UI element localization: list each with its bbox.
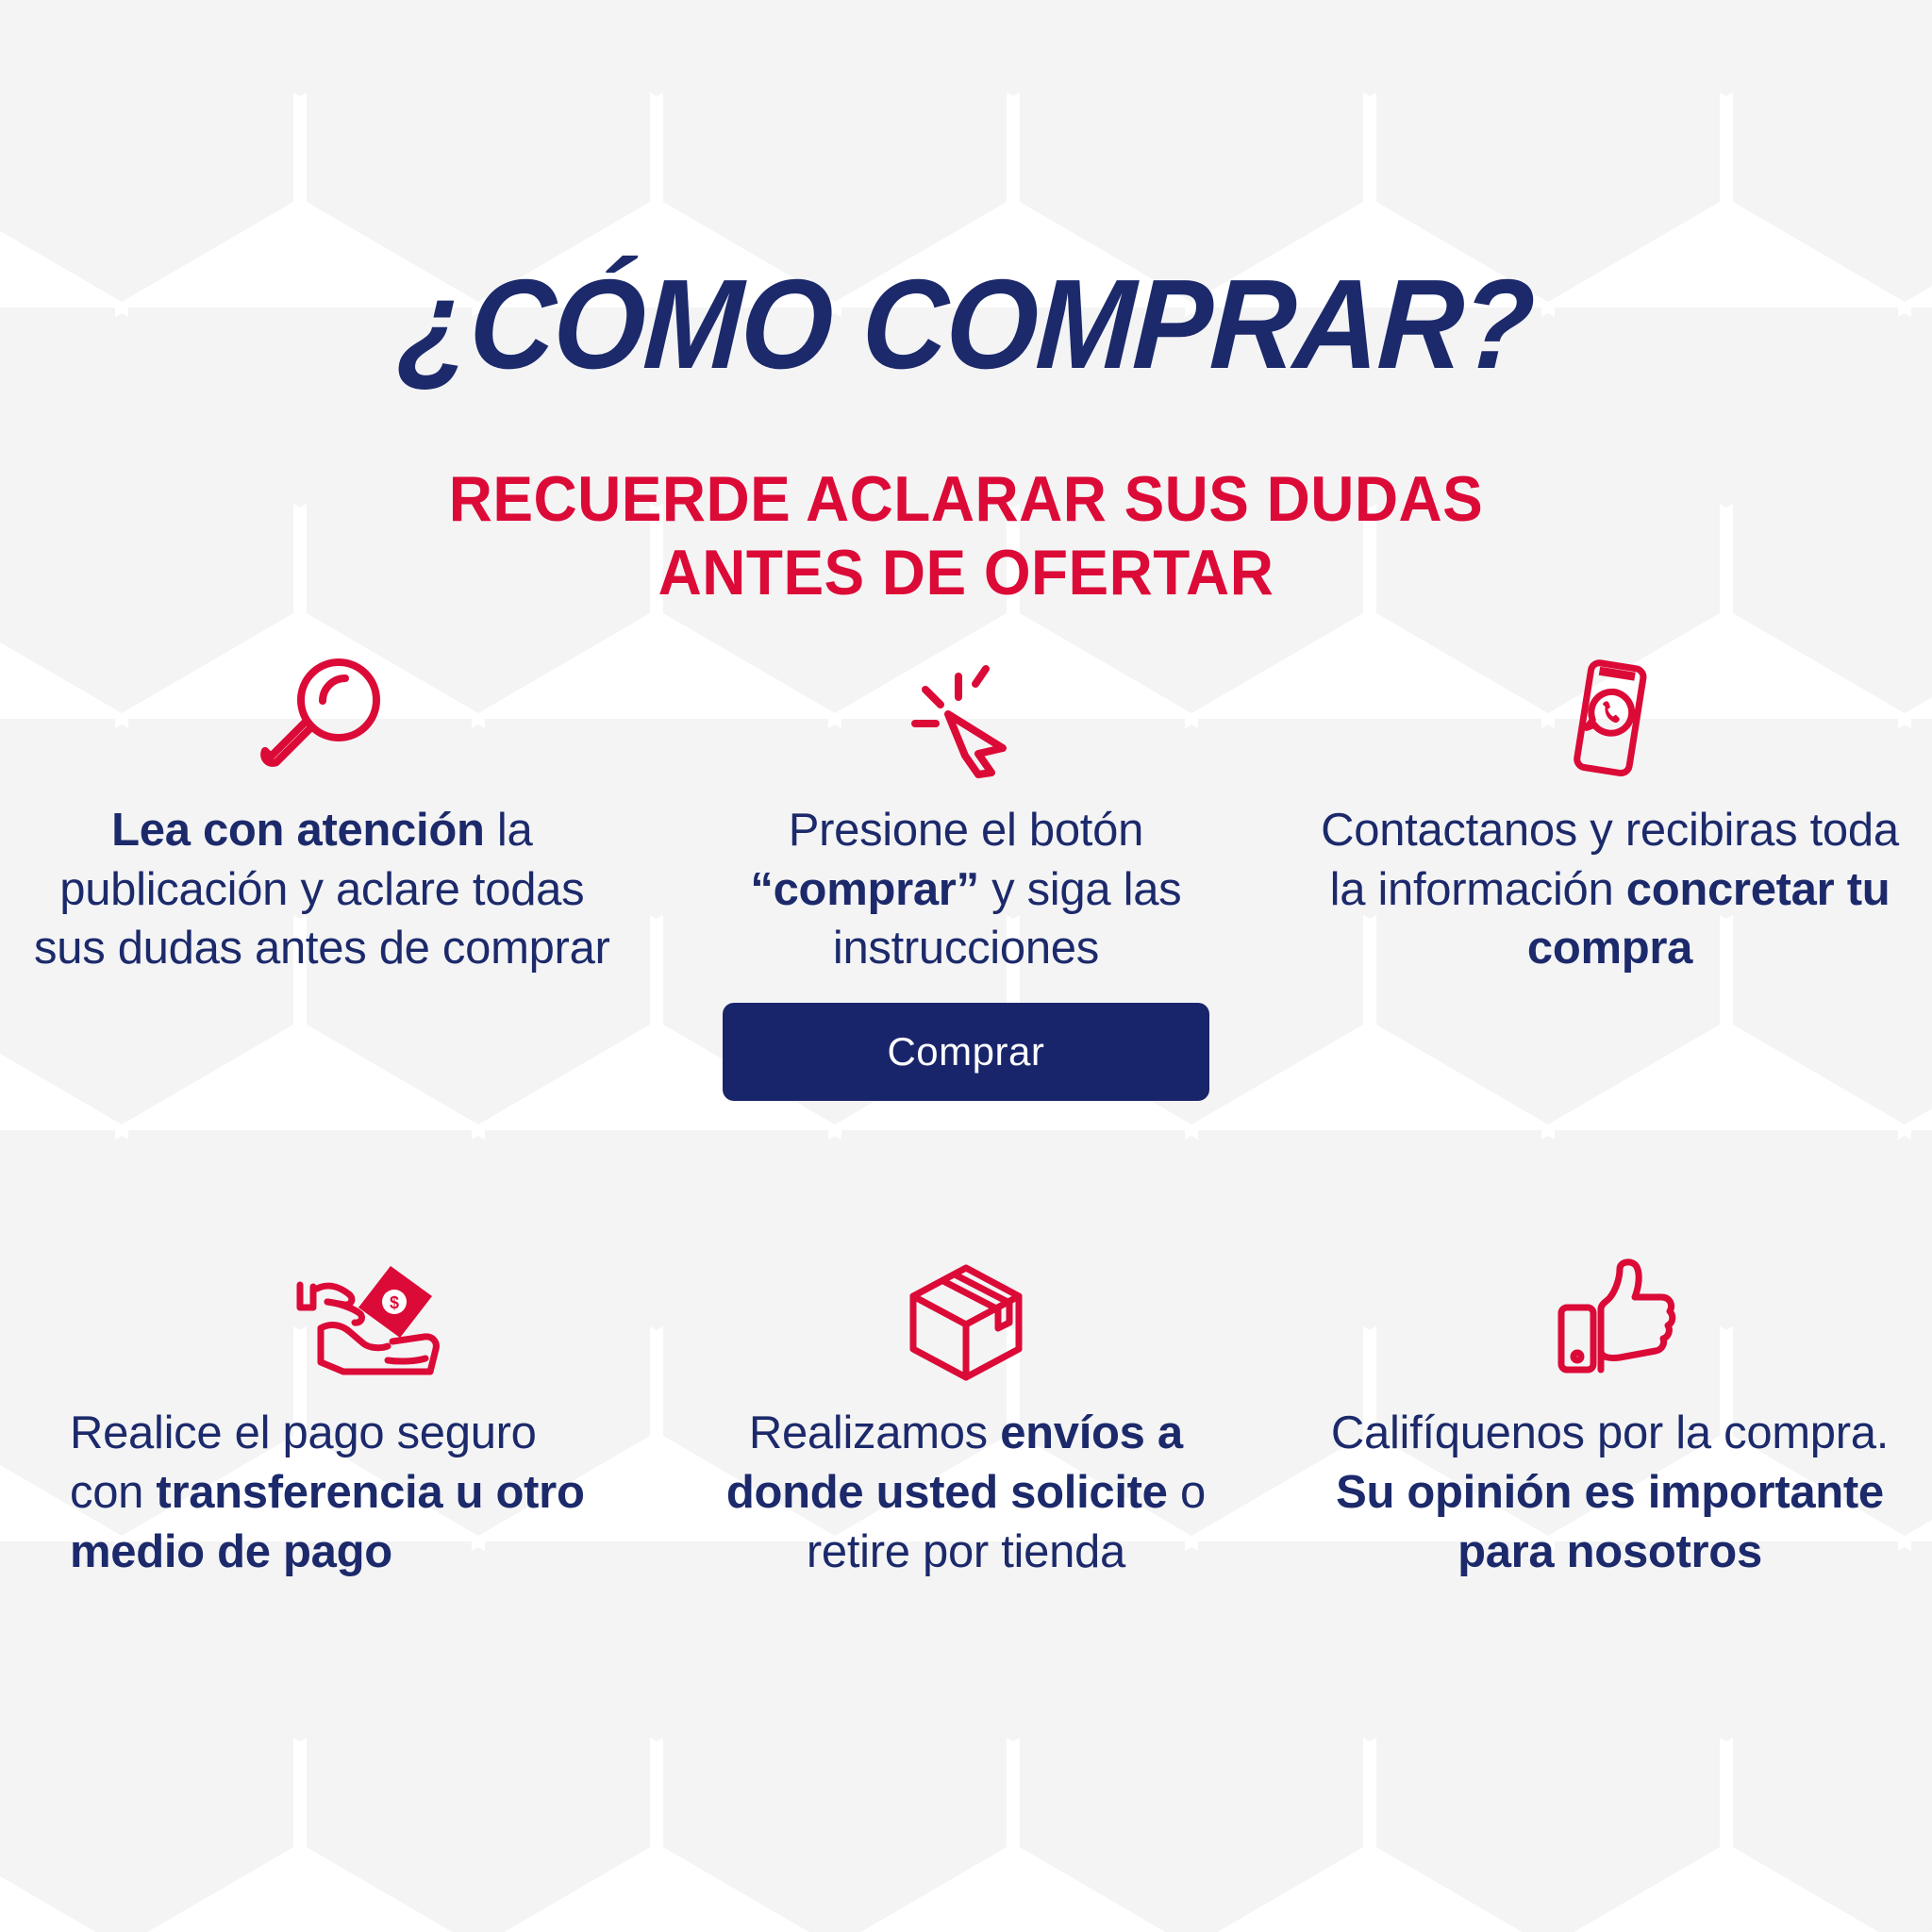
package-box-icon xyxy=(900,1254,1032,1381)
thumbs-up-icon xyxy=(1548,1254,1671,1381)
step-read-carefully: Lea con atención la publicación y aclare… xyxy=(0,651,644,978)
page-subtitle: RECUERDE ACLARAR SUS DUDAS ANTES DE OFER… xyxy=(58,462,1874,609)
step-shipping: Realizamos envíos a donde usted solicite… xyxy=(644,1254,1289,1581)
svg-text:$: $ xyxy=(390,1293,399,1312)
comprar-button[interactable]: Comprar xyxy=(723,1003,1209,1101)
step-shipping-text: Realizamos envíos a donde usted solicite… xyxy=(676,1404,1257,1581)
step-read-carefully-text: Lea con atención la publicación y aclare… xyxy=(32,801,612,978)
subtitle-line-2: ANTES DE OFERTAR xyxy=(58,536,1874,609)
click-cursor-icon xyxy=(905,651,1027,778)
hand-money-icon: $ xyxy=(289,1254,449,1381)
steps-row-top: Lea con atención la publicación y aclare… xyxy=(0,651,1932,1101)
step-press-buy: Presione el botón “comprar” y siga las i… xyxy=(644,651,1289,1101)
step-contact-whatsapp: Contactanos y recibiras toda la informac… xyxy=(1288,651,1932,978)
infographic-poster: ¿CÓMO COMPRAR? RECUERDE ACLARAR SUS DUDA… xyxy=(0,0,1932,1932)
steps-grid: Lea con atención la publicación y aclare… xyxy=(0,651,1932,1581)
step-rate-us-text: Califíquenos por la compra. Su opinión e… xyxy=(1320,1404,1900,1581)
subtitle-line-1: RECUERDE ACLARAR SUS DUDAS xyxy=(449,463,1484,535)
magnifier-icon xyxy=(256,651,388,778)
comprar-button-row: Comprar xyxy=(644,1003,1289,1101)
step-press-buy-text: Presione el botón “comprar” y siga las i… xyxy=(676,801,1257,978)
step-rate-us: Califíquenos por la compra. Su opinión e… xyxy=(1288,1254,1932,1581)
whatsapp-phone-icon xyxy=(1548,651,1671,778)
step-contact-whatsapp-text: Contactanos y recibiras toda la informac… xyxy=(1320,801,1900,978)
step-secure-payment: $ xyxy=(0,1254,644,1581)
step-secure-payment-text: Realice el pago seguro con transferencia… xyxy=(32,1404,612,1581)
page-title: ¿CÓMO COMPRAR? xyxy=(64,260,1867,388)
steps-row-bottom: $ xyxy=(0,1254,1932,1581)
